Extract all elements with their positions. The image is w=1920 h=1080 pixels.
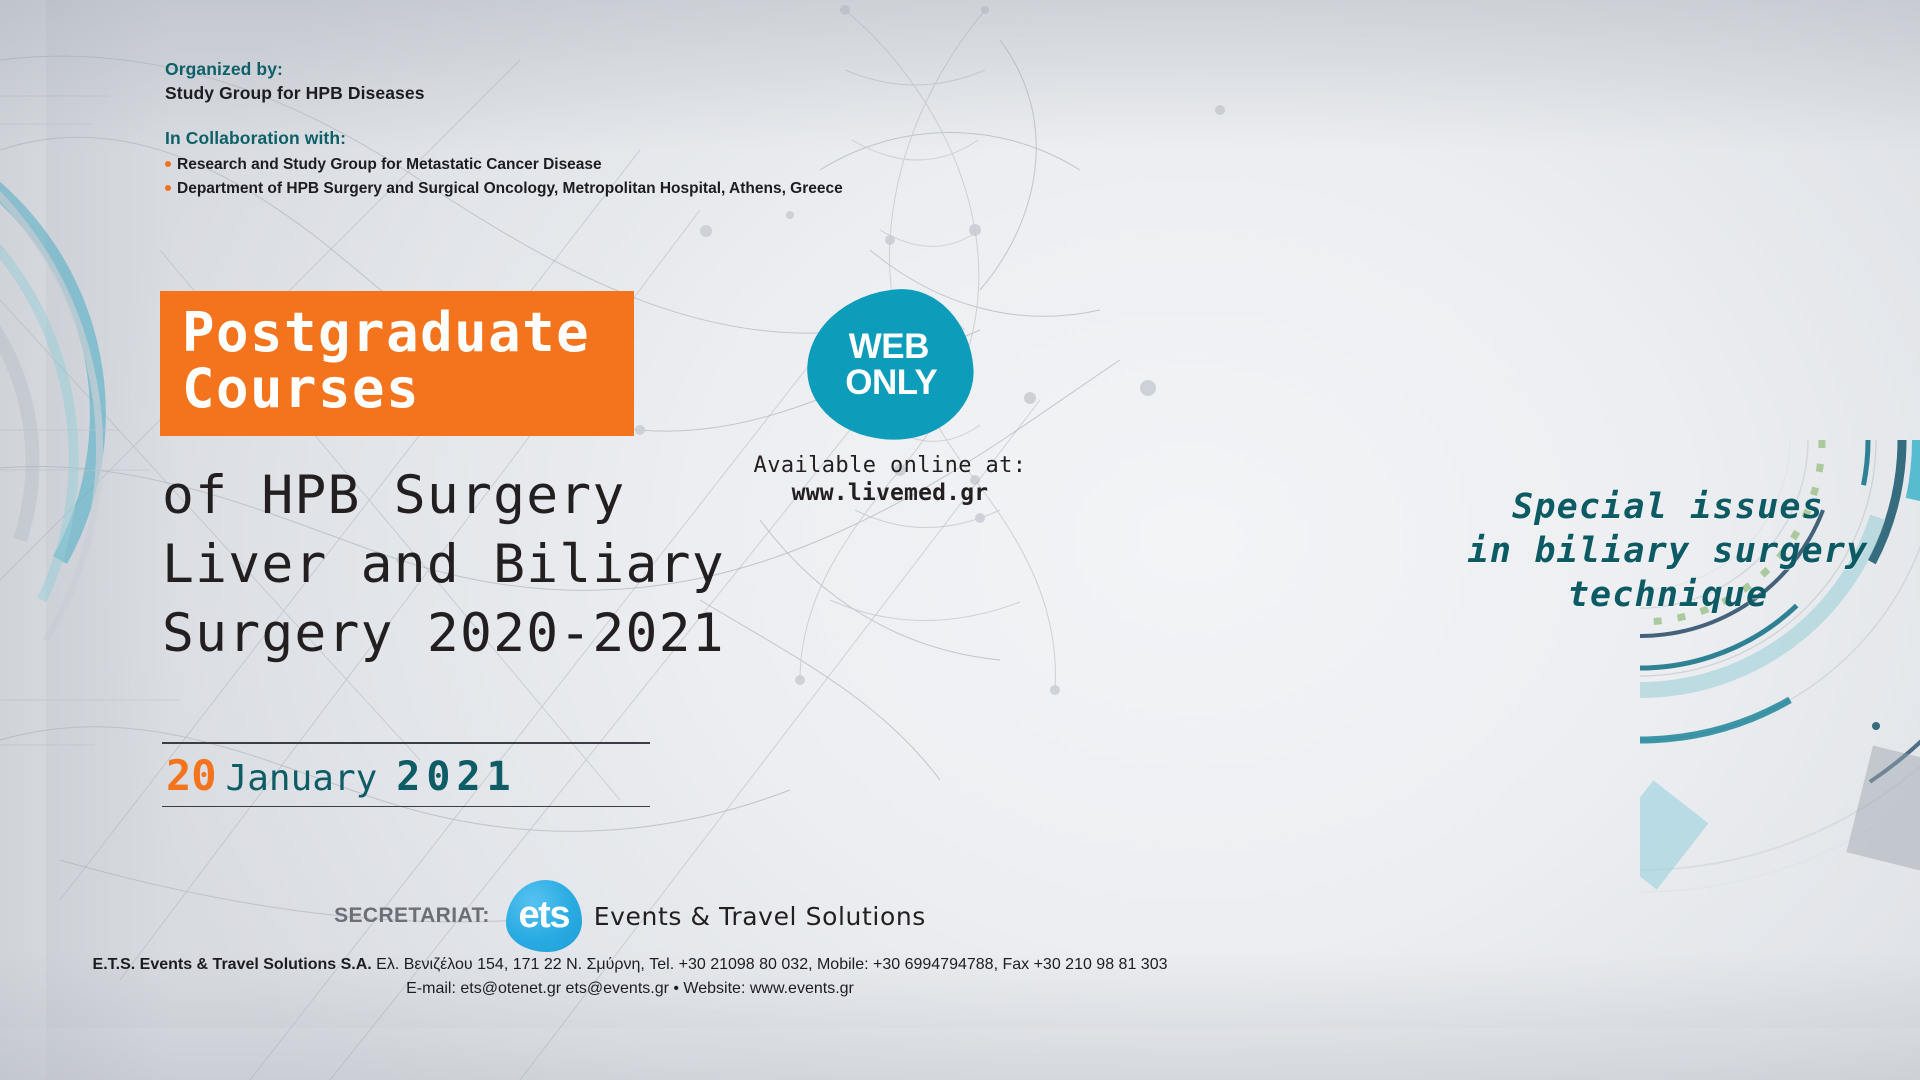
title-badge-line-2: Courses <box>182 361 612 417</box>
date-year: 2021 <box>396 754 516 800</box>
date-rule-bottom <box>162 806 650 808</box>
page-title: of HPB Surgery Liver and Biliary Surgery… <box>162 462 725 669</box>
date-row: 20 January 2021 <box>162 744 650 806</box>
collaboration-label: In Collaboration with: <box>165 126 843 150</box>
event-date-block: 20 January 2021 <box>162 742 650 807</box>
slogan-line-1: Special issues <box>1418 485 1918 529</box>
footer: E.T.S. Events & Travel Solutions S.A. Eλ… <box>0 953 1260 1000</box>
web-only-group: WEB ONLY Available online at: www.liveme… <box>740 290 1040 506</box>
livemed-url[interactable]: www.livemed.gr <box>740 480 1040 506</box>
title-line-1: of HPB Surgery <box>162 462 725 531</box>
footer-address: Eλ. Βενιζέλου 154, 171 22 Ν. Σμύρνη, Tel… <box>376 956 1167 973</box>
ets-logo-text: ets <box>519 896 569 934</box>
bullet-icon <box>165 185 171 191</box>
ets-logo-icon: ets <box>506 880 582 952</box>
collaborators-list: Research and Study Group for Metastatic … <box>165 153 843 200</box>
collaborator-label: Research and Study Group for Metastatic … <box>177 156 602 173</box>
list-item: Department of HPB Surgery and Surgical O… <box>165 177 843 201</box>
footer-line-1: E.T.S. Events & Travel Solutions S.A. Eλ… <box>0 953 1260 977</box>
slogan-line-3: technique <box>1418 573 1918 617</box>
organized-by-label: Organized by: <box>165 57 425 81</box>
secretariat-company-name: Events & Travel Solutions <box>594 902 926 931</box>
secretariat-label: SECRETARIAT: <box>334 904 490 928</box>
slogan-block: Special issues in biliary surgery techni… <box>1418 485 1918 617</box>
list-item: Research and Study Group for Metastatic … <box>165 153 843 177</box>
date-month: January <box>226 758 378 799</box>
slogan-line-2: in biliary surgery <box>1418 529 1918 573</box>
collaborator-label: Department of HPB Surgery and Surgical O… <box>177 180 843 197</box>
title-line-3: Surgery 2020-2021 <box>162 600 725 669</box>
web-only-badge: WEB ONLY <box>802 284 978 445</box>
available-online-label: Available online at: <box>740 453 1040 478</box>
title-badge: Postgraduate Courses <box>160 291 634 436</box>
organizers-block: Organized by: Study Group for HPB Diseas… <box>165 57 425 105</box>
title-line-2: Liver and Biliary <box>162 531 725 600</box>
organized-by-value: Study Group for HPB Diseases <box>165 81 425 105</box>
bullet-icon <box>165 161 171 167</box>
footer-line-2: E-mail: ets@otenet.gr ets@events.gr • We… <box>0 977 1260 1001</box>
date-day: 20 <box>166 751 217 800</box>
secretariat-row: SECRETARIAT: ets Events & Travel Solutio… <box>0 880 1260 952</box>
collaboration-block: In Collaboration with: Research and Stud… <box>165 126 843 200</box>
web-only-line-2: ONLY <box>845 365 937 400</box>
title-badge-line-1: Postgraduate <box>182 305 612 361</box>
footer-company: E.T.S. Events & Travel Solutions S.A. <box>93 956 372 973</box>
web-only-line-1: WEB <box>849 330 929 364</box>
